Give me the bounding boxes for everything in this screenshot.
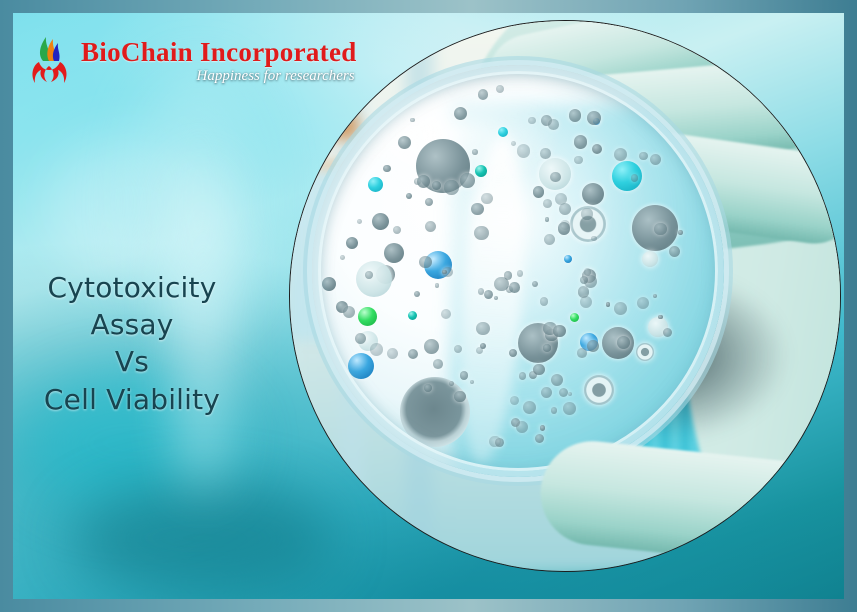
flame-icon (27, 35, 71, 87)
petri-dish (312, 65, 724, 477)
brand-tagline: Happiness for researchers (197, 69, 355, 84)
petri-dish-photo (289, 20, 841, 572)
page-title: CytotoxicityAssayVsCell Viability (19, 269, 245, 418)
page-title-line-3: Cell Viability (19, 381, 245, 418)
brand-name: BioChain Incorporated (81, 39, 357, 66)
poster-canvas: BioChain Incorporated Happiness for rese… (0, 0, 857, 612)
page-title-line-1: Assay (19, 306, 245, 343)
page-title-line-0: Cytotoxicity (19, 269, 245, 306)
dish-rim-inner (318, 71, 718, 471)
background-blob (43, 133, 223, 283)
page-title-line-2: Vs (19, 343, 245, 380)
brand-logo: BioChain Incorporated Happiness for rese… (27, 35, 357, 87)
poster-inner: BioChain Incorporated Happiness for rese… (13, 13, 844, 599)
